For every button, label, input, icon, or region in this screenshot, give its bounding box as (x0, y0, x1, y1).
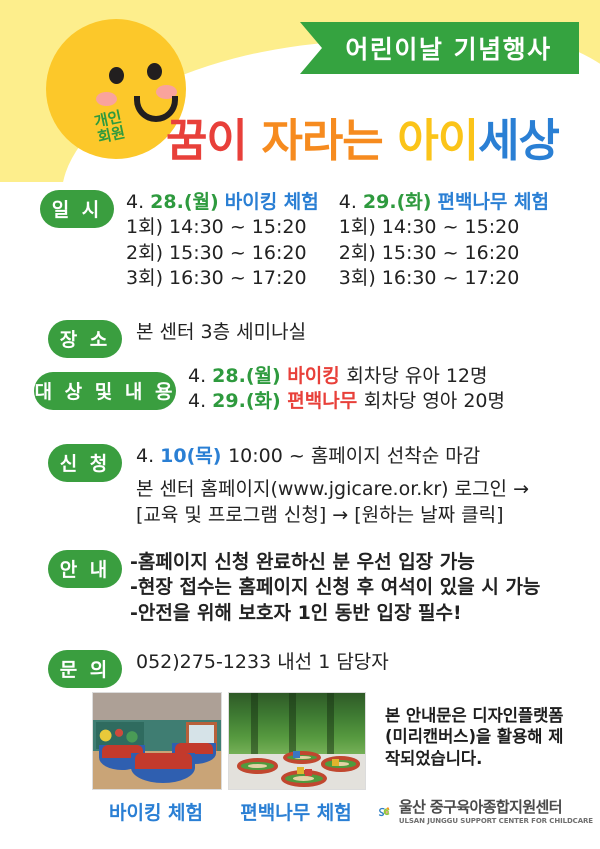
photo2-caption: 편백나무 체험 (222, 798, 370, 825)
datetime-col2-session-2: 2회) 15:30 ~ 16:20 (339, 241, 549, 266)
target-line-1: 4. 28.(월) 바이킹 회차당 유아 12명 (188, 364, 505, 389)
photo2-toy-block (305, 769, 312, 776)
row-place: 장 소 본 센터 3층 세미나실 (48, 320, 306, 358)
apply-line-1: 4. 10(목) 10:00 ~ 홈페이지 선착순 마감 (136, 444, 529, 469)
target-line2-program: 편백나무 (287, 390, 364, 412)
photo2-tree-trunk (327, 693, 334, 756)
datetime-col1-header: 4. 28.(월) 바이킹 체험 (126, 190, 319, 215)
datetime-col2-date: 29.(화) (363, 191, 432, 213)
poster-root: 어린이날 기념행사 개인 회원 꿈이 자라는 아이세상 일 시 4. 28.(월… (0, 0, 600, 849)
title-segment-1: 꿈이 (166, 114, 261, 167)
target-line2-date: 29.(화) (212, 390, 287, 412)
photo2-play-pad (237, 758, 278, 773)
photo2-play-pad (321, 756, 359, 771)
datetime-col2-program: 편백나무 체험 (437, 191, 549, 213)
row-notice: 안 내 -홈페이지 신청 완료하신 분 우선 입장 가능 -현장 접수는 홈페이… (48, 550, 540, 626)
logo-mark-icon (378, 792, 392, 832)
row-apply: 신 청 4. 10(목) 10:00 ~ 홈페이지 선착순 마감 본 센터 홈페… (48, 444, 529, 528)
title-segment-4: 세상 (478, 114, 559, 167)
datetime-col1-session-2: 2회) 15:30 ~ 16:20 (126, 241, 319, 266)
label-datetime: 일 시 (40, 190, 114, 228)
organization-logo: 울산 중구육아종합지원센터 ULSAN JUNGGU SUPPORT CENTE… (378, 790, 593, 834)
sun-eye-right (147, 63, 162, 80)
datetime-col1-program: 바이킹 체험 (225, 191, 319, 213)
photo2-tree-trunk (289, 693, 296, 756)
logo-name-english: ULSAN JUNGGU SUPPORT CENTER FOR CHILDCAR… (399, 818, 593, 825)
photo2-toy-block (297, 767, 304, 774)
apply-line1-date: 10(목) (160, 445, 228, 467)
apply-line-3: [교육 및 프로그램 신청] → [원하는 날짜 클릭] (136, 503, 529, 528)
design-credit-line2: (미리캔버스)을 활용해 제 (385, 726, 590, 747)
poster-header: 어린이날 기념행사 개인 회원 꿈이 자라는 아이세상 (0, 0, 600, 182)
target-line1-rest: 회차당 유아 12명 (346, 365, 487, 387)
design-credit-line3: 작되었습니다. (385, 748, 590, 769)
notice-line-3: -안전을 위해 보호자 1인 동반 입장 필수! (130, 601, 540, 626)
notice-line-2: -현장 접수는 홈페이지 신청 후 여석이 있을 시 가능 (130, 575, 540, 600)
photo2-toy-block (293, 751, 300, 758)
place-value: 본 센터 3층 세미나실 (136, 320, 306, 345)
label-notice: 안 내 (48, 550, 122, 588)
label-place: 장 소 (48, 320, 122, 358)
logo-text-block: 울산 중구육아종합지원센터 ULSAN JUNGGU SUPPORT CENTE… (399, 800, 593, 825)
row-contact: 문 의 052)275-1233 내선 1 담당자 (48, 650, 389, 688)
target-line2-rest: 회차당 영아 20명 (364, 390, 505, 412)
datetime-col1-date: 28.(월) (150, 191, 219, 213)
photo2-toy-block (332, 759, 339, 766)
photo2-forest-backdrop (229, 693, 365, 756)
title-segment-3: 아이 (397, 114, 478, 167)
photo1-ceiling (93, 693, 221, 722)
row-datetime: 일 시 4. 28.(월) 바이킹 체험 1회) 14:30 ~ 15:20 2… (40, 190, 549, 292)
apply-content: 4. 10(목) 10:00 ~ 홈페이지 선착순 마감 본 센터 홈페이지(w… (136, 444, 529, 528)
logo-name-korean: 울산 중구육아종합지원센터 (399, 800, 593, 815)
photo-cypress-experience (228, 692, 366, 790)
label-apply: 신 청 (48, 444, 122, 482)
photo1-caption: 바이킹 체험 (92, 798, 220, 825)
datetime-column-2: 4. 29.(화) 편백나무 체험 1회) 14:30 ~ 15:20 2회) … (339, 190, 549, 292)
datetime-col2-date-prefix: 4. (339, 191, 363, 213)
apply-line1-prefix: 4. (136, 445, 160, 467)
datetime-col2-session-1: 1회) 14:30 ~ 15:20 (339, 215, 549, 240)
apply-line-2: 본 센터 홈페이지(www.jgicare.or.kr) 로그인 → (136, 477, 529, 502)
notice-line-1: -홈페이지 신청 완료하신 분 우선 입장 가능 (130, 550, 540, 575)
apply-line1-rest: 10:00 ~ 홈페이지 선착순 마감 (228, 445, 480, 467)
target-line1-date: 28.(월) (212, 365, 287, 387)
target-line-2: 4. 29.(화) 편백나무 회차당 영아 20명 (188, 389, 505, 414)
notice-content: -홈페이지 신청 완료하신 분 우선 입장 가능 -현장 접수는 홈페이지 신청… (130, 550, 540, 626)
title-segment-2: 자라는 (261, 114, 397, 167)
datetime-col1-session-3: 3회) 16:30 ~ 17:20 (126, 266, 319, 291)
ribbon-label: 어린이날 기념행사 (327, 30, 551, 66)
contact-value: 052)275-1233 내선 1 담당자 (136, 650, 389, 675)
photo2-play-pad (283, 751, 321, 764)
design-credit-note: 본 안내문은 디자인플랫폼 (미리캔버스)을 활용해 제 작되었습니다. (385, 705, 590, 769)
sun-cheek-left (96, 92, 117, 106)
target-line1-program: 바이킹 (287, 365, 346, 387)
poster-footer: 바이킹 체험 편백나무 체험 본 안내문은 디자인플랫폼 (미리캔버스)을 활용… (0, 690, 600, 849)
design-credit-line1: 본 안내문은 디자인플랫폼 (385, 705, 590, 726)
label-contact: 문 의 (48, 650, 122, 688)
event-ribbon-banner: 어린이날 기념행사 (300, 22, 579, 74)
sun-eye-left (109, 67, 124, 84)
datetime-col2-header: 4. 29.(화) 편백나무 체험 (339, 190, 549, 215)
poster-title: 꿈이 자라는 아이세상 (166, 104, 559, 169)
row-target: 대 상 및 내 용 4. 28.(월) 바이킹 회차당 유아 12명 4. 29… (34, 364, 505, 415)
target-line1-prefix: 4. (188, 365, 212, 387)
photo2-tree-trunk (251, 693, 258, 756)
datetime-col1-session-1: 1회) 14:30 ~ 15:20 (126, 215, 319, 240)
target-line2-prefix: 4. (188, 390, 212, 412)
datetime-col2-session-3: 3회) 16:30 ~ 17:20 (339, 266, 549, 291)
datetime-column-1: 4. 28.(월) 바이킹 체험 1회) 14:30 ~ 15:20 2회) 1… (126, 190, 319, 292)
datetime-col1-date-prefix: 4. (126, 191, 150, 213)
target-content: 4. 28.(월) 바이킹 회차당 유아 12명 4. 29.(화) 편백나무 … (188, 364, 505, 415)
photo-viking-experience (92, 692, 222, 790)
label-target: 대 상 및 내 용 (34, 372, 176, 410)
